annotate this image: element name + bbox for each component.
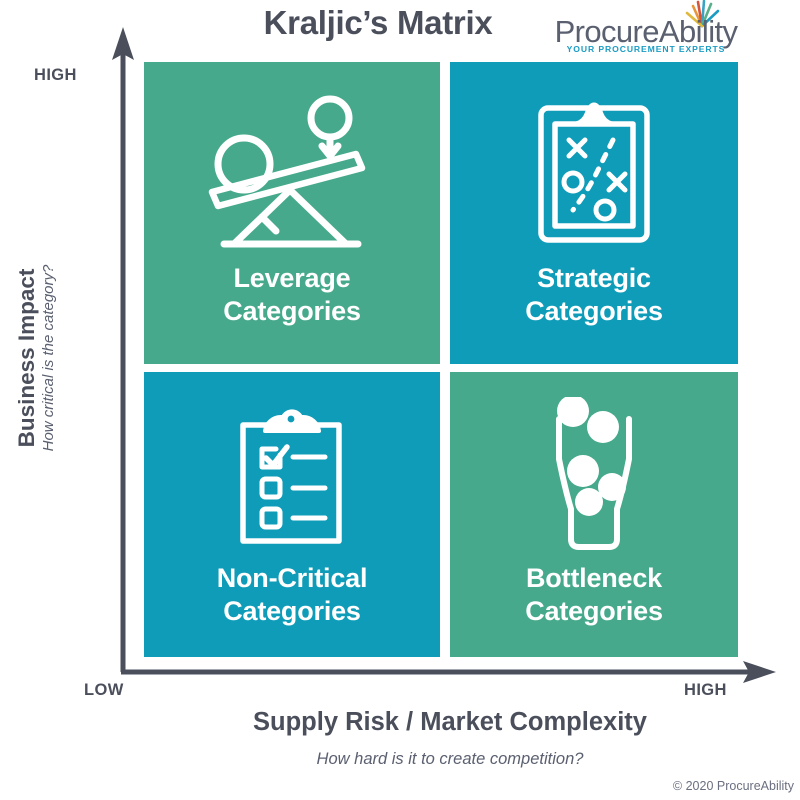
seesaw-lever-icon (206, 88, 378, 256)
quadrant-non-critical-label-line1: Non-Critical (217, 562, 368, 595)
quadrant-bottleneck-label-line1: Bottleneck (525, 562, 663, 595)
y-axis-title: Business Impact (13, 78, 40, 638)
quadrant-bottleneck[interactable]: Bottleneck Categories (450, 372, 738, 657)
quadrant-leverage-label: Leverage Categories (223, 262, 361, 328)
bottleneck-glass-icon (533, 396, 655, 556)
x-axis-low-label: LOW (84, 681, 124, 700)
x-axis-subtitle: How hard is it to create competition? (100, 750, 800, 769)
y-axis-label-group: Business Impact How critical is the cate… (15, 78, 61, 638)
quadrant-bottleneck-label: Bottleneck Categories (525, 562, 663, 628)
quadrant-leverage-label-line1: Leverage (223, 262, 361, 295)
quadrant-strategic-label-line1: Strategic (525, 262, 663, 295)
quadrant-leverage[interactable]: Leverage Categories (144, 62, 440, 364)
quadrant-leverage-label-line2: Categories (223, 295, 361, 328)
quadrant-non-critical-label: Non-Critical Categories (217, 562, 368, 628)
strategy-clipboard-icon (529, 88, 659, 256)
quadrant-strategic-label: Strategic Categories (525, 262, 663, 328)
x-axis-high-label: HIGH (684, 681, 727, 700)
quadrant-non-critical[interactable]: Non-Critical Categories (144, 372, 440, 657)
quadrant-strategic[interactable]: Strategic Categories (450, 62, 738, 364)
quadrant-strategic-label-line2: Categories (525, 295, 663, 328)
checklist-clipboard-icon (229, 396, 355, 556)
y-axis-subtitle: How critical is the category? (39, 78, 59, 638)
quadrant-bottleneck-label-line2: Categories (525, 595, 663, 628)
x-axis-title: Supply Risk / Market Complexity (100, 708, 800, 737)
kraljic-matrix-diagram: Kraljic’s Matrix ProcureAbility YOUR PRO… (0, 0, 800, 800)
quadrant-non-critical-label-line2: Categories (217, 595, 368, 628)
copyright-notice: © 2020 ProcureAbility (500, 779, 794, 793)
